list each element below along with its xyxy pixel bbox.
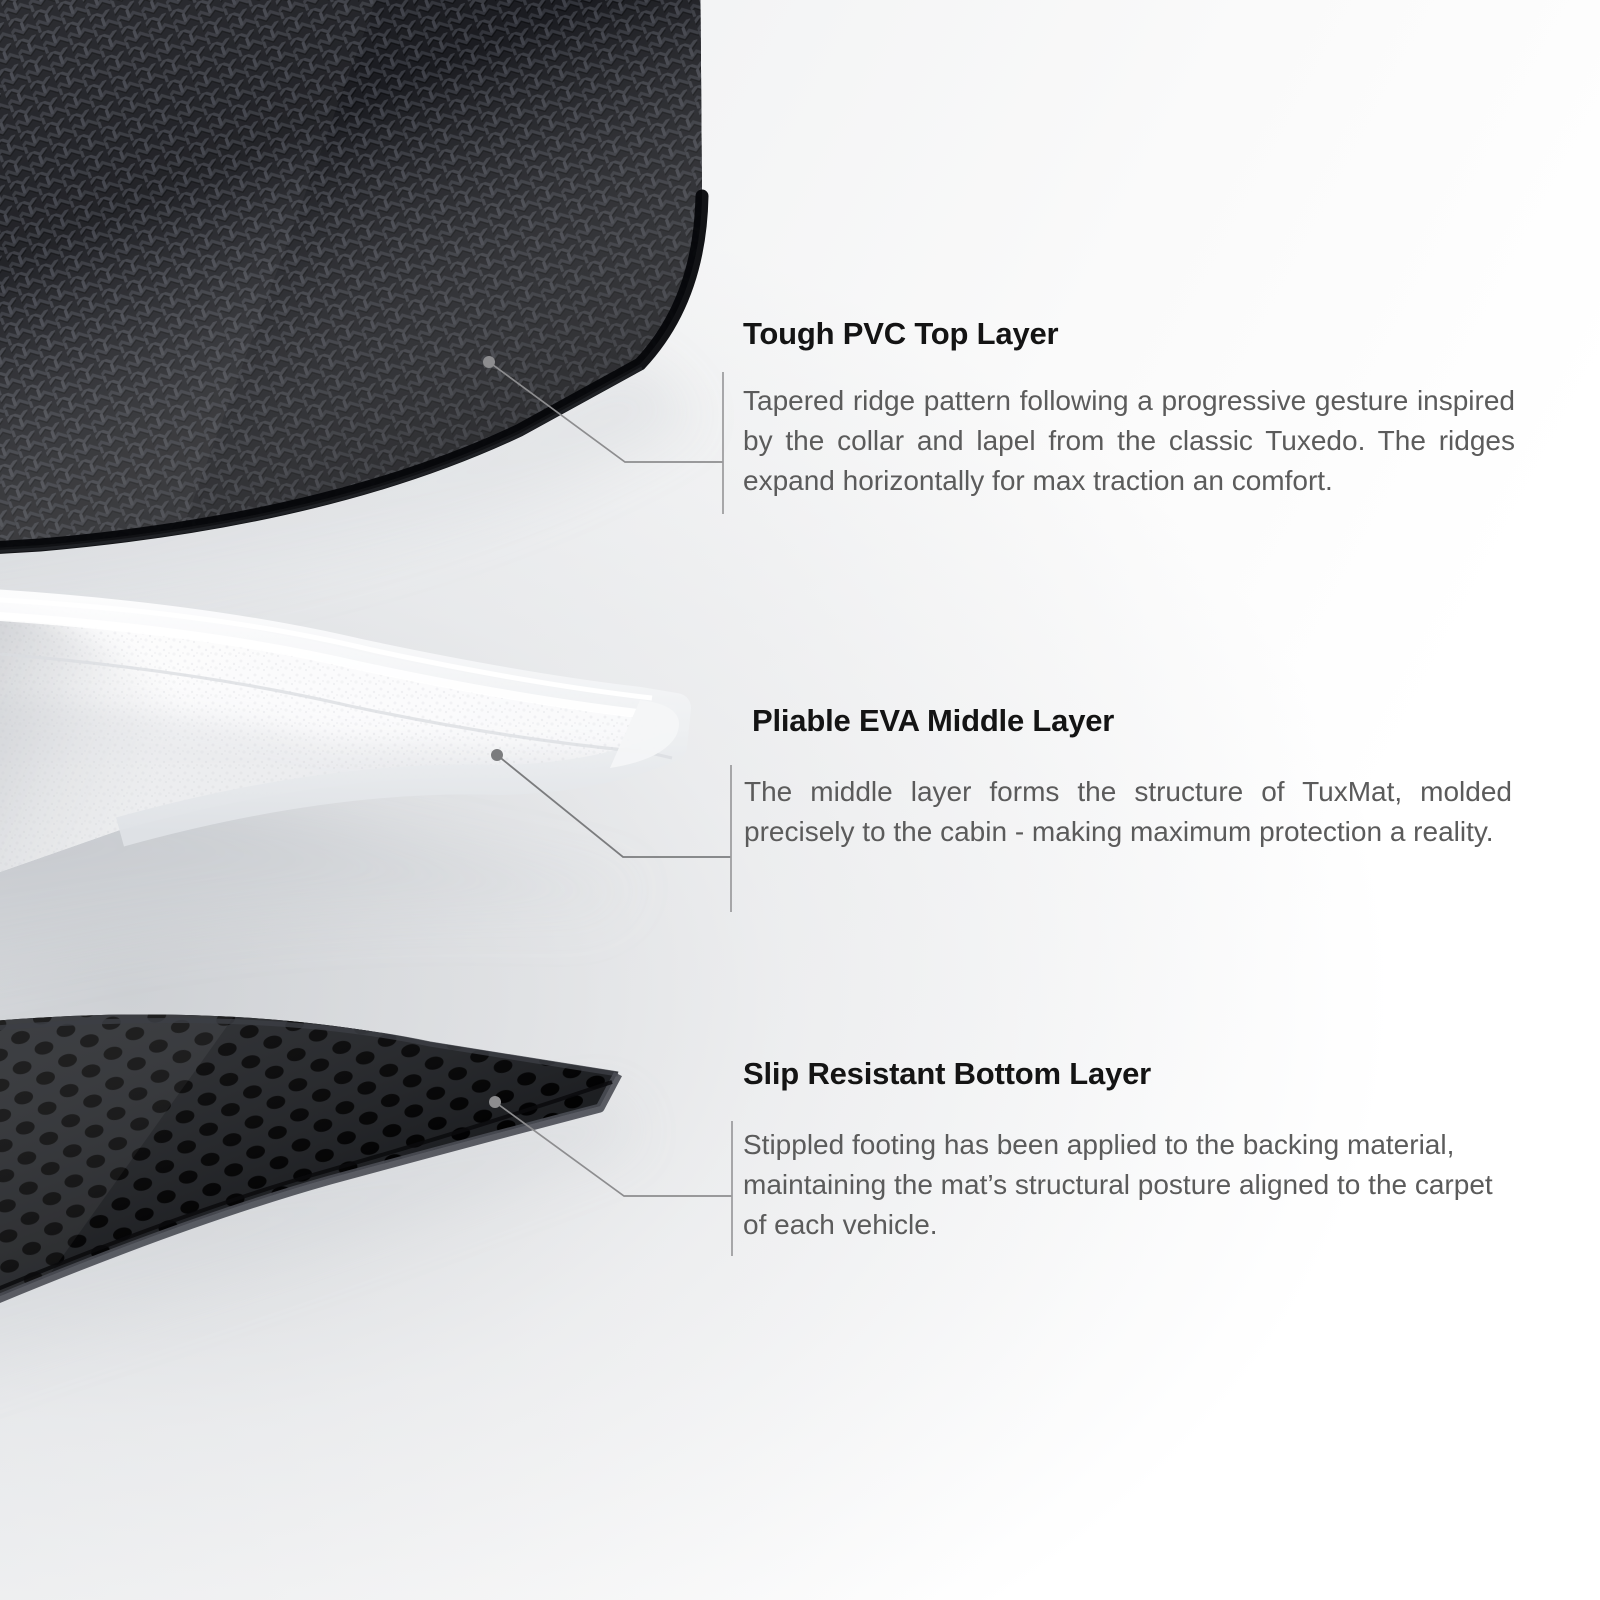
infographic-canvas: Tough PVC Top Layer Tapered ridge patter… (0, 0, 1600, 1600)
callout-heading-bottom-layer: Slip Resistant Bottom Layer (743, 1058, 1515, 1089)
callout-body-bottom-layer: Stippled footing has been applied to the… (743, 1125, 1518, 1245)
callout-body-top-layer: Tapered ridge pattern following a progre… (743, 381, 1515, 501)
callout-middle-layer: Pliable EVA Middle Layer The middle laye… (752, 705, 1517, 852)
callout-text-group: Tough PVC Top Layer Tapered ridge patter… (0, 0, 1600, 1600)
callout-heading-middle-layer: Pliable EVA Middle Layer (752, 705, 1517, 736)
callout-top-layer: Tough PVC Top Layer Tapered ridge patter… (743, 318, 1515, 501)
callout-body-middle-layer: The middle layer forms the structure of … (744, 772, 1512, 852)
callout-bottom-layer: Slip Resistant Bottom Layer Stippled foo… (743, 1058, 1515, 1245)
callout-heading-top-layer: Tough PVC Top Layer (743, 318, 1515, 349)
